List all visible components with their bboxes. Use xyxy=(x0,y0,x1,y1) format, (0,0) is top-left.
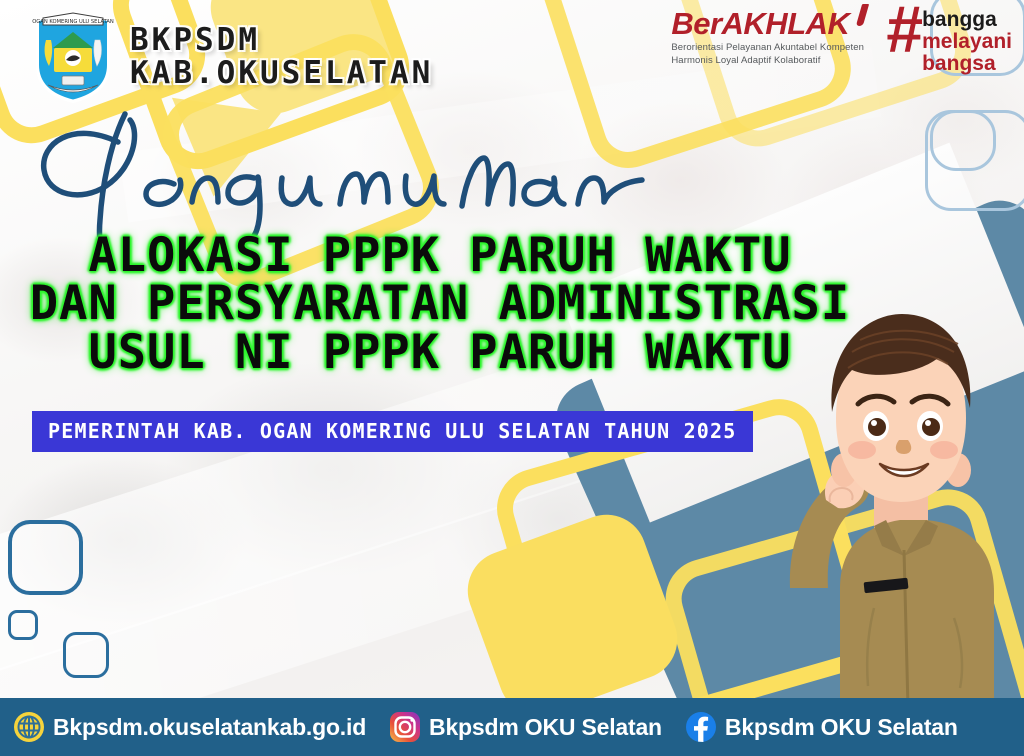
blue-square-decor xyxy=(8,520,83,595)
footer-website-label: Bkpsdm.okuselatankab.go.id xyxy=(53,714,366,741)
subtitle-banner-text: PEMERINTAH KAB. OGAN KOMERING ULU SELATA… xyxy=(48,419,737,443)
blue-square-decor xyxy=(63,632,109,678)
facebook-icon xyxy=(684,710,718,744)
berakhlak-tagline: Berorientasi Pelayanan Akuntabel Kompete… xyxy=(671,42,864,68)
berakhlak-logo: BerAKHLAK Berorientasi Pelayanan Akuntab… xyxy=(671,8,864,68)
pointing-civil-servant-illustration xyxy=(778,288,1024,708)
poster-headline: ALOKASI PPPK PARUH WAKTU DAN PERSYARATAN… xyxy=(0,232,880,377)
hash-icon: # xyxy=(885,0,918,59)
script-title-wrap: Pengumuman xyxy=(22,92,902,237)
svg-text:OGAN KOMERING ULU SELATAN: OGAN KOMERING ULU SELATAN xyxy=(32,19,114,25)
pengumuman-script-title: Pengumuman xyxy=(22,92,902,237)
poster-footer: Bkpsdm.okuselatankab.go.id Bkpsdm OKU Se… xyxy=(0,698,1024,756)
blue-square-decor xyxy=(8,610,38,640)
org-name: BKPSDM KAB.OKUSELATAN xyxy=(130,24,433,91)
globe-icon xyxy=(12,710,46,744)
instagram-icon xyxy=(388,710,422,744)
bangga-line-1: bangga xyxy=(922,9,1012,31)
bangga-line-3: bangsa xyxy=(922,53,1012,75)
bangga-melayani-bangsa-logo: # bangga melayani bangsa xyxy=(885,4,1012,74)
footer-facebook-label: Bkpsdm OKU Selatan xyxy=(725,714,958,741)
footer-instagram-label: Bkpsdm OKU Selatan xyxy=(429,714,662,741)
footer-item-facebook[interactable]: Bkpsdm OKU Selatan xyxy=(684,710,958,744)
footer-item-instagram[interactable]: Bkpsdm OKU Selatan xyxy=(388,710,662,744)
footer-item-website[interactable]: Bkpsdm.okuselatankab.go.id xyxy=(12,710,366,744)
bangga-line-2: melayani xyxy=(922,31,1012,53)
announcement-poster: OGAN KOMERING ULU SELATAN BKPSDM KAB.OKU… xyxy=(0,0,1024,756)
subtitle-banner: PEMERINTAH KAB. OGAN KOMERING ULU SELATA… xyxy=(32,411,753,452)
light-blue-square-decor xyxy=(930,110,996,171)
berakhlak-wordmark: BerAKHLAK xyxy=(671,8,849,39)
